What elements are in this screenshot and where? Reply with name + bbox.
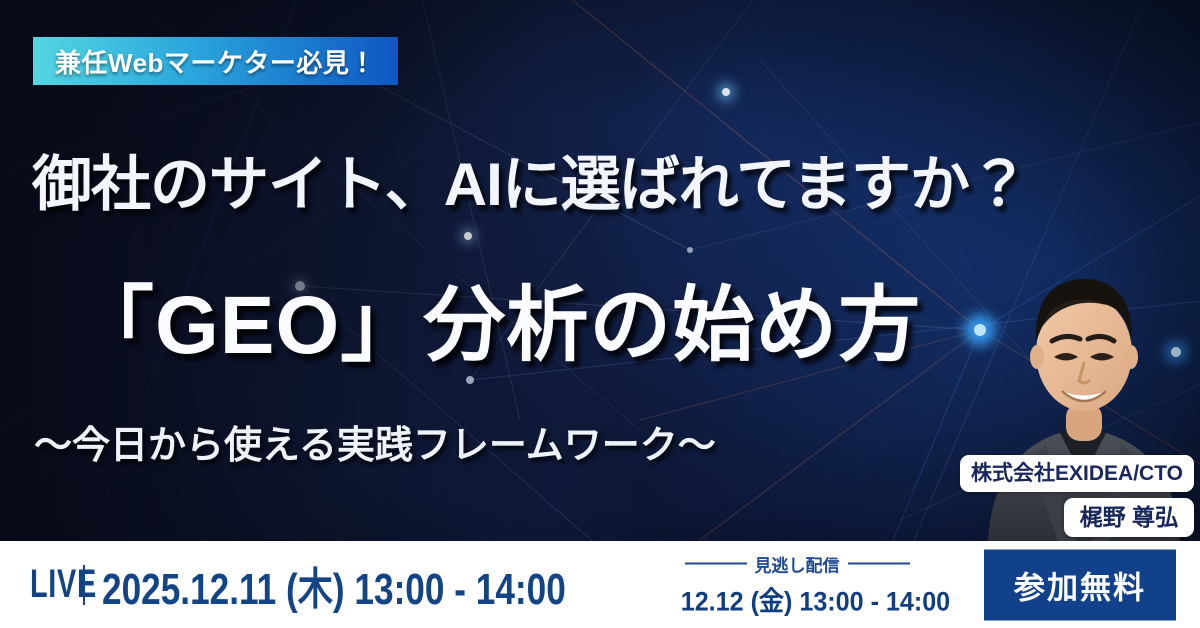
replay-heading: 見逃し配信 [672, 551, 922, 576]
audience-badge: 兼任Webマーケター必見！ [33, 37, 398, 85]
webinar-banner: 兼任Webマーケター必見！ 御社のサイト、AIに選ばれてますか？ 「GEO」分析… [0, 0, 1200, 628]
speaker-block: 株式会社EXIDEA/CTO 梶野 尊弘 [932, 245, 1200, 541]
replay-label: 見逃し配信 [755, 551, 840, 576]
headline-line-1: 御社のサイト、AIに選ばれてますか？ [32, 136, 1172, 223]
replay-rule-right [848, 563, 910, 565]
headline-subtitle: 〜今日から使える実践フレームワーク〜 [34, 414, 716, 469]
speaker-name: 梶野 尊弘 [1064, 498, 1194, 537]
replay-schedule: 見逃し配信 12.12 (金) 13:00 - 14:00 [672, 551, 922, 618]
live-datetime: 2025.12.11 (木) 13:00 - 14:00 [102, 553, 566, 617]
replay-datetime: 12.12 (金) 13:00 - 14:00 [681, 579, 914, 618]
live-label: LIVE [30, 562, 97, 607]
live-schedule: LIVE 2025.12.11 (木) 13:00 - 14:00 [30, 553, 682, 617]
replay-rule-left [685, 563, 747, 565]
headline-line-2: 「GEO」分析の始め方 [72, 258, 1072, 377]
audience-badge-label: 兼任Webマーケター必見！ [55, 43, 376, 80]
speaker-name-plate: 株式会社EXIDEA/CTO 梶野 尊弘 [960, 455, 1194, 537]
speaker-organization: 株式会社EXIDEA/CTO [960, 455, 1194, 492]
register-free-button[interactable]: 参加無料 [984, 549, 1176, 620]
footer-bar: LIVE 2025.12.11 (木) 13:00 - 14:00 見逃し配信 … [0, 541, 1200, 628]
